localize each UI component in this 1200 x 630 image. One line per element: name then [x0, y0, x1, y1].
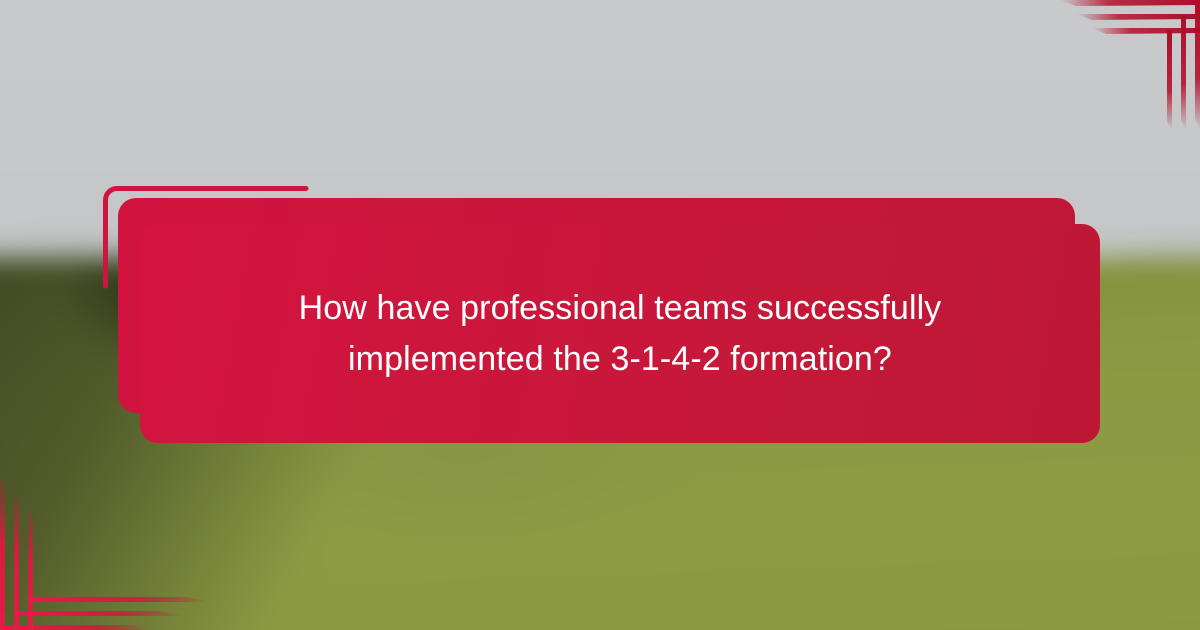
headline-card: How have professional teams successfully… [140, 224, 1100, 443]
page-title: How have professional teams successfully… [253, 283, 988, 385]
social-card-canvas: How have professional teams successfully… [0, 0, 1200, 630]
